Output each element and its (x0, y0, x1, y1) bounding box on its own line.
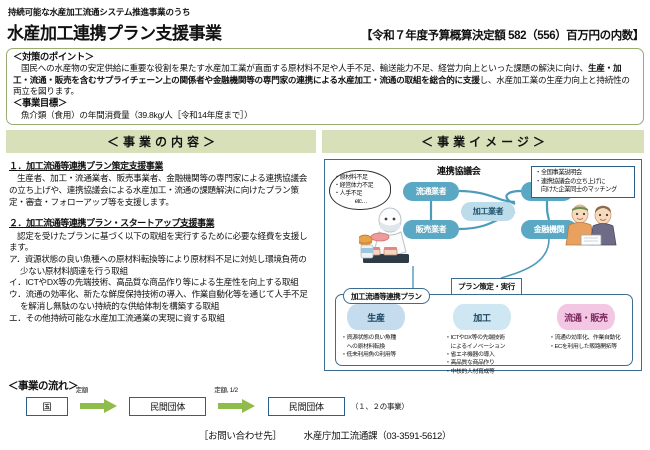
flow-arrow-1-caption: 定額 (76, 384, 88, 394)
support-note-box: ・全国事業説明会 ・連携協議会の立ち上げに 向けた企業同士のマッチング (531, 166, 635, 198)
goal-body: 魚介類（食用）の年間消費量（39.8kg/人［令和14年度まで］） (13, 110, 637, 121)
points-label: ＜対策のポイント＞ (13, 51, 637, 63)
processing-bullets: ・ICTやDX等の先端技術 によるイノベーション ・省エネ機器の導入 ・高品質な… (445, 334, 533, 376)
contact-label: ［お問い合わせ先］ (199, 431, 282, 442)
note-council-launch: ・連携協議会の立ち上げに (535, 178, 632, 187)
flow-arrow-1-cell: 定額 (68, 395, 129, 417)
figure-wrapper: 連携協議会 流通業者 販売業者 漁業者 金融機関 加工業者 ・原材料不足 ・経営… (322, 153, 644, 371)
note-company-matching: 向けた企業同士のマッチング (535, 186, 632, 195)
processing-bullet-3: ・省エネ機器の導入 (445, 351, 533, 359)
contact-office: 水産庁加工流通課（03-3591-5612） (304, 431, 452, 442)
item2-body: 認定を受けたプランに基づく以下の取組を実行するために必要な経費を支援します。 (9, 231, 312, 254)
business-image-diagram: 連携協議会 流通業者 販売業者 漁業者 金融機関 加工業者 ・原材料不足 ・経営… (324, 159, 642, 371)
header: 持続可能な水産加工流通システム推進事業のうち 水産加工連携プラン支援事業 【令和… (6, 6, 644, 44)
left-column: ＜事業の内容＞ １．加工流通等連携プラン策定支援事業 生産者、加工・流通業者、販… (6, 130, 316, 371)
processing-bullet-4: ・高品質な商品作り (445, 359, 533, 367)
processing-bullet-2: によるイノベーション (445, 343, 533, 351)
sub-item-i: イ．ICTやDX等の先端技術、高品質な商品作り等による生産性を向上する取組 (9, 277, 312, 289)
sub-item-a: ア．資源状態の良い魚種への原材料転換等により原材料不足に対処し環境負荷の少ない原… (9, 254, 312, 277)
page-title: 水産加工連携プラン支援事業 (7, 19, 222, 44)
sub-item-e: エ．その他持続可能な水産加工流通業の実現に資する取組 (9, 313, 312, 325)
stage-processing: 加工 (453, 304, 511, 330)
policy-points-box: ＜対策のポイント＞ 国民への水産物の安定供給に重要な役割を果たす水産加工業が直面… (6, 48, 644, 125)
note-national-briefing: ・全国事業説明会 (535, 169, 632, 178)
flow-arrow-2-cell: 定額, 1/2 (206, 395, 267, 417)
flow-box-private-org-2: 民間団体 (268, 397, 345, 416)
production-bullet-3: ・低未利用魚の利用等 (341, 351, 427, 359)
goal-label: ＜事業目標＞ (13, 97, 637, 109)
flow-row: 国 定額 民間団体 定額, 1/2 民間団体 （１、２の事業） (8, 395, 408, 417)
footer-contact: ［お問い合わせ先］水産庁加工流通課（03-3591-5612） (0, 428, 650, 442)
arrow-right-icon (218, 399, 256, 413)
flow-box-private-org-1: 民間団体 (129, 397, 206, 416)
factory-worker-illustration (359, 204, 413, 266)
two-people-illustration (563, 202, 619, 248)
slide-page: 持続可能な水産加工流通システム推進事業のうち 水産加工連携プラン支援事業 【令和… (0, 0, 650, 450)
challenge-material-shortage: ・原材料不足 (334, 174, 388, 182)
points-body: 国民への水産物の安定供給に重要な役割を果たす水産加工業が直面する原材料不足や人手… (13, 63, 637, 97)
points-body-part1: 国民への水産物の安定供給に重要な役割を果たす水産加工業が直面する原材料不足や人手… (21, 63, 588, 73)
challenge-labor-shortage: ・人手不足 (334, 190, 388, 198)
item1-title: １．加工流通等連携プラン策定支援事業 (9, 160, 312, 172)
council-title: 連携協議会 (437, 164, 481, 177)
super-title: 持続可能な水産加工流通システム推進事業のうち (8, 6, 644, 18)
production-bullets: ・資源状態の良い魚種 への原材料転換 ・低未利用魚の利用等 (341, 334, 427, 359)
processing-bullet-5: ・中核的人材育成等 (445, 368, 533, 376)
item2-title: ２．加工流通等連携プラン・スタートアップ支援事業 (9, 217, 312, 229)
business-flow-section: ＜事業の流れ＞ 国 定額 民間団体 定額, 1/2 民間団体 （１、２の事業） (8, 378, 408, 417)
pill-processor: 加工業者 (461, 202, 515, 221)
plan-panel-tag: 加工流通等連携プラン (343, 288, 430, 304)
challenge-management-capacity: ・経営体力不足 (334, 182, 388, 190)
stage-production: 生産 (347, 304, 405, 330)
right-column: ＜事業イメージ＞ (322, 130, 644, 371)
distribution-bullets: ・流通の効率化、作業自動化 ・ECを利用した販路開拓等 (549, 334, 637, 351)
sub-item-u: ウ．流通の効率化、新たな鮮度保持技術の導入、作業自動化等を通じて人手不足を解消し… (9, 289, 312, 312)
production-bullet-1: ・資源状態の良い魚種 (341, 334, 427, 342)
content-columns: ＜事業の内容＞ １．加工流通等連携プラン策定支援事業 生産者、加工・流通業者、販… (6, 130, 644, 371)
flow-box-state: 国 (26, 397, 68, 416)
left-column-body: １．加工流通等連携プラン策定支援事業 生産者、加工・流通業者、販売事業者、金融機… (6, 153, 316, 324)
arrow-right-icon (80, 399, 118, 413)
plan-execution-tag: プラン策定・実行 (451, 278, 522, 295)
flow-note: （１、２の事業） (351, 401, 408, 412)
budget-amount: 【令和７年度予算概算決定額 582（556）百万円の内数】 (361, 27, 644, 44)
flow-heading: ＜事業の流れ＞ (8, 378, 408, 393)
stage-distribution-sales: 流通・販売 (557, 304, 615, 330)
pill-distributor: 流通業者 (403, 182, 459, 201)
left-column-heading: ＜事業の内容＞ (6, 130, 316, 153)
flow-arrow-2-caption: 定額, 1/2 (214, 384, 238, 394)
distribution-bullet-1: ・流通の効率化、作業自動化 (549, 334, 637, 342)
item1-body: 生産者、加工・流通業者、販売事業者、金融機関等の専門家による連携協議会の立ち上げ… (9, 173, 312, 208)
item2-sub-list: ア．資源状態の良い魚種への原材料転換等により原材料不足に対処し環境負荷の少ない原… (9, 254, 312, 324)
right-column-heading: ＜事業イメージ＞ (322, 130, 644, 153)
production-bullet-2: への原材料転換 (341, 343, 427, 351)
distribution-bullet-2: ・ECを利用した販路開拓等 (549, 343, 637, 351)
processing-bullet-1: ・ICTやDX等の先端技術 (445, 334, 533, 342)
